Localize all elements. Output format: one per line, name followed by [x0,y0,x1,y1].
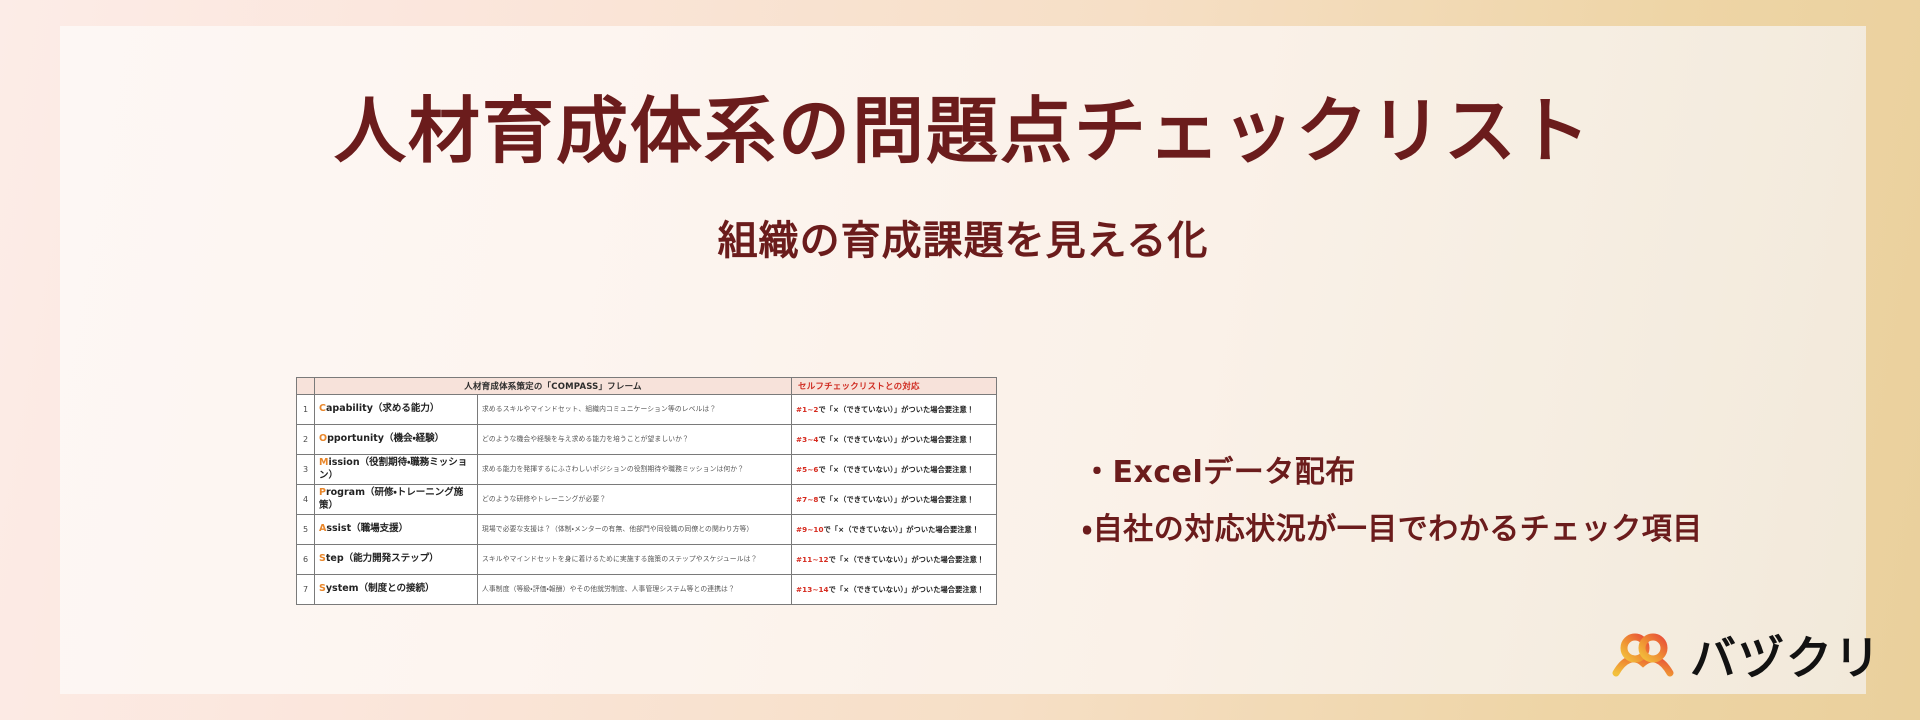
frame-label: tep（能力開発ステップ） [326,553,439,564]
header-cell-frame: 人材育成体系策定の「COMPASS」フレーム [315,378,792,395]
cell-row-number: 2 [297,425,315,455]
cell-frame-name: Opportunity（機会・経験） [315,425,478,455]
cell-checklist-mapping: #11~12で「×（できていない）」がついた場合要注意！ [792,545,997,575]
brand-logo: バヅクリ [1612,632,1882,683]
cell-checklist-mapping: #5~6で「×（できていない）」がついた場合要注意！ [792,455,997,485]
table-row: 7System（制度との接続）人事制度（等級・評価・報酬）やその他就労制度、人事… [297,575,997,605]
cell-frame-name: Mission（役割期待・職務ミッション） [315,455,478,485]
table-head: 人材育成体系策定の「COMPASS」フレーム セルフチェックリストとの対応 [297,378,997,395]
cell-row-number: 4 [297,485,315,515]
frame-label: pportunity（機会・経験） [327,433,444,444]
cell-frame-name: Program（研修・トレーニング施策） [315,485,478,515]
checklist-range: #7~8 [796,495,818,504]
checklist-range: #9~10 [796,525,824,534]
frame-label: ssist（職場支援） [326,523,408,534]
checklist-range: #11~12 [796,555,829,564]
checklist-note: で「×（できていない）」がついた場合要注意！ [818,495,974,504]
header-cell-number [297,378,315,395]
poster-stage: 人材育成体系の問題点チェックリスト 組織の育成課題を見える化 人材育成体系策定の… [0,0,1920,720]
checklist-range: #5~6 [796,465,818,474]
cell-checklist-mapping: #9~10で「×（できていない）」がついた場合要注意！ [792,515,997,545]
frame-label: apability（求める能力） [326,403,439,414]
brand-name: バヅクリ [1690,635,1882,681]
cell-row-number: 1 [297,395,315,425]
checklist-note: で「×（できていない）」がついた場合要注意！ [824,525,980,534]
checklist-note: で「×（できていない）」がついた場合要注意！ [818,465,974,474]
cell-row-number: 5 [297,515,315,545]
cell-description: 現場で必要な支援は？（体制・メンターの有無、他部門や同役職の同僚との関わり方等） [478,515,792,545]
page-title: 人材育成体系の問題点チェックリスト [60,94,1866,170]
cell-row-number: 3 [297,455,315,485]
frame-label: ission（役割期待・職務ミッション） [319,457,467,481]
cell-checklist-mapping: #3~4で「×（できていない）」がついた場合要注意！ [792,425,997,455]
frame-initial: S [319,583,326,594]
cell-frame-name: System（制度との接続） [315,575,478,605]
frame-label: ystem（制度との接続） [326,583,435,594]
two-people-loop-icon [1612,632,1674,683]
cell-frame-name: Assist（職場支援） [315,515,478,545]
compass-table-wrapper: 人材育成体系策定の「COMPASS」フレーム セルフチェックリストとの対応 1C… [296,377,996,605]
cell-row-number: 7 [297,575,315,605]
cell-checklist-mapping: #13~14で「×（できていない）」がついた場合要注意！ [792,575,997,605]
checklist-note: で「×（できていない）」がついた場合要注意！ [829,555,985,564]
table-row: 3Mission（役割期待・職務ミッション）求める能力を発揮するにふさわしいポジ… [297,455,997,485]
frame-initial: P [319,487,326,498]
cell-row-number: 6 [297,545,315,575]
checklist-range: #13~14 [796,585,829,594]
feature-item: ・自社の対応状況が一目でわかるチェック項目 [1082,501,1703,558]
cell-description: スキルやマインドセットを身に着けるために実施する施策のステップやスケジュールは？ [478,545,792,575]
compass-table: 人材育成体系策定の「COMPASS」フレーム セルフチェックリストとの対応 1C… [296,377,997,605]
checklist-range: #3~4 [796,435,818,444]
frame-label: rogram（研修・トレーニング施策） [319,487,463,511]
cell-description: 人事制度（等級・評価・報酬）やその他就労制度、人事管理システム等との連携は？ [478,575,792,605]
table-header-row: 人材育成体系策定の「COMPASS」フレーム セルフチェックリストとの対応 [297,378,997,395]
frame-initial: O [319,433,327,444]
cell-frame-name: Step（能力開発ステップ） [315,545,478,575]
cell-description: どのような研修やトレーニングが必要？ [478,485,792,515]
frame-initial: S [319,553,326,564]
checklist-note: で「×（できていない）」がついた場合要注意！ [829,585,985,594]
feature-list: ・Excelデータ配布・自社の対応状況が一目でわかるチェック項目 [1082,444,1703,558]
cell-description: どのような機会や経験を与え求める能力を培うことが望ましいか？ [478,425,792,455]
table-row: 2Opportunity（機会・経験）どのような機会や経験を与え求める能力を培う… [297,425,997,455]
table-row: 6Step（能力開発ステップ）スキルやマインドセットを身に着けるために実施する施… [297,545,997,575]
feature-item: ・Excelデータ配布 [1082,444,1703,501]
cell-checklist-mapping: #1~2で「×（できていない）」がついた場合要注意！ [792,395,997,425]
cell-frame-name: Capability（求める能力） [315,395,478,425]
checklist-note: で「×（できていない）」がついた場合要注意！ [818,405,974,414]
content-panel: 人材育成体系の問題点チェックリスト 組織の育成課題を見える化 人材育成体系策定の… [60,26,1866,694]
header-cell-check: セルフチェックリストとの対応 [792,378,997,395]
table-row: 5Assist（職場支援）現場で必要な支援は？（体制・メンターの有無、他部門や同… [297,515,997,545]
table-body: 1Capability（求める能力）求めるスキルやマインドセット、組織内コミュニ… [297,395,997,605]
cell-description: 求める能力を発揮するにふさわしいポジションの役割期待や職務ミッションは何か？ [478,455,792,485]
checklist-range: #1~2 [796,405,818,414]
cell-description: 求めるスキルやマインドセット、組織内コミュニケーション等のレベルは？ [478,395,792,425]
table-row: 1Capability（求める能力）求めるスキルやマインドセット、組織内コミュニ… [297,395,997,425]
frame-initial: C [319,403,326,414]
page-subtitle: 組織の育成課題を見える化 [60,208,1866,266]
checklist-note: で「×（できていない）」がついた場合要注意！ [818,435,974,444]
table-row: 4Program（研修・トレーニング施策）どのような研修やトレーニングが必要？#… [297,485,997,515]
cell-checklist-mapping: #7~8で「×（できていない）」がついた場合要注意！ [792,485,997,515]
